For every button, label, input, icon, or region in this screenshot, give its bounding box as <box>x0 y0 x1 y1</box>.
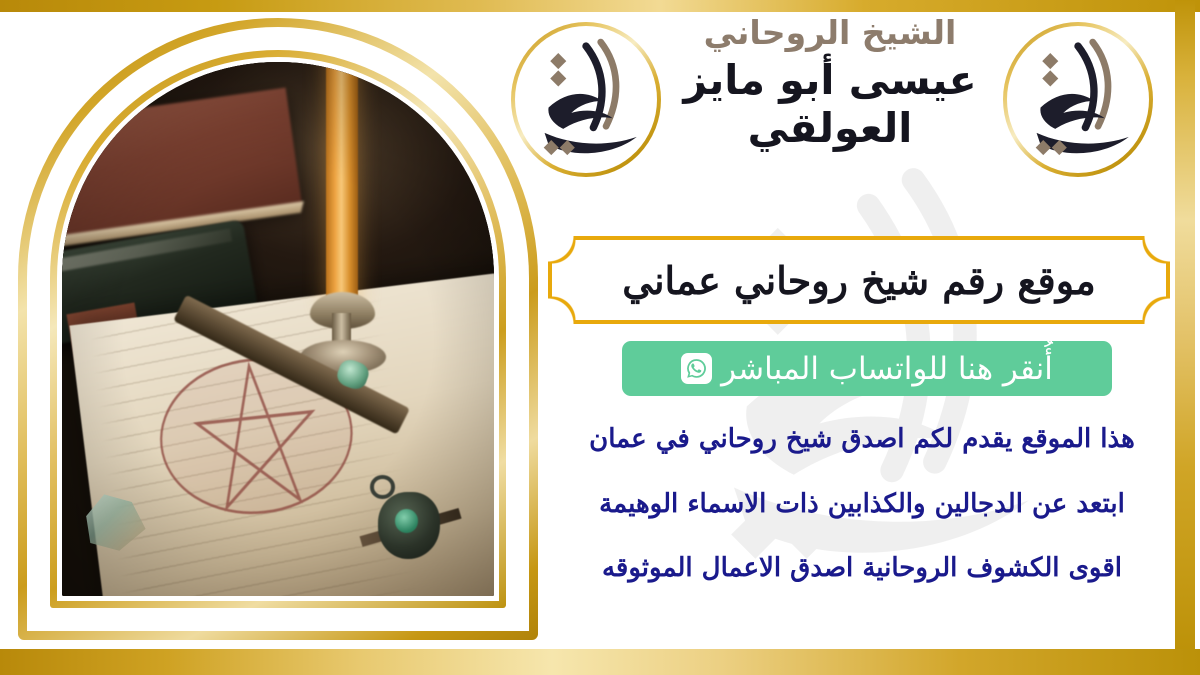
page-border-bottom <box>0 649 1200 675</box>
body-copy: هذا الموقع يقدم لكم اصدق شيخ روحاني في ع… <box>542 425 1182 583</box>
brand-logo-medallion-right <box>1003 22 1153 177</box>
photo-frame <box>18 18 538 640</box>
photo-frame-inner-border <box>50 50 506 608</box>
banner-canvas: الشيخ الروحاني عيسى أبو مايز العولقي <box>0 0 1200 675</box>
whatsapp-cta-button[interactable]: أُنقر هنا للواتساب المباشر <box>622 341 1112 396</box>
whatsapp-icon <box>681 353 712 384</box>
photo-scene <box>62 62 494 596</box>
page-title-plate: موقع رقم شيخ روحاني عماني <box>548 236 1170 324</box>
brand-name-line-1: عيسى أبو مايز <box>650 56 1010 104</box>
content-column: الشيخ الروحاني عيسى أبو مايز العولقي <box>540 0 1185 649</box>
body-line-3: اقوى الكشوف الروحانية اصدق الاعمال الموث… <box>542 554 1182 583</box>
body-line-1: هذا الموقع يقدم لكم اصدق شيخ روحاني في ع… <box>542 425 1182 454</box>
scene-vignette <box>62 62 494 596</box>
brand-logo-medallion-left <box>511 22 661 177</box>
brand-kicker: الشيخ الروحاني <box>650 14 1010 52</box>
brand-name-line-2: العولقي <box>650 104 1010 152</box>
page-title: موقع رقم شيخ روحاني عماني <box>548 236 1170 324</box>
brand-titles: الشيخ الروحاني عيسى أبو مايز العولقي <box>650 14 1010 153</box>
whatsapp-cta-label: أُنقر هنا للواتساب المباشر <box>721 351 1053 387</box>
brand-header: الشيخ الروحاني عيسى أبو مايز العولقي <box>540 14 1185 204</box>
body-line-2: ابتعد عن الدجالين والكذابين ذات الاسماء … <box>542 490 1182 519</box>
occult-still-life-image <box>62 62 494 596</box>
